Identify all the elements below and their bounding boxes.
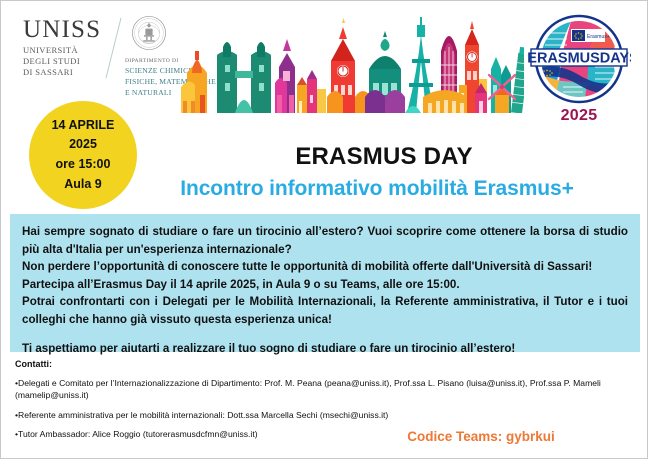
body-paragraph-3: Partecipa all’Erasmus Day il 14 aprile 2… [22,276,628,294]
contacts-title: Contatti: [15,359,637,369]
uniss-wordmark: UNISS [23,17,105,42]
erasmusdays-badge-logo: Erasmus+ #ERASMUSDAYS [527,11,631,111]
date-circle-line2: 2025 [69,135,97,155]
skyline-illustration [179,9,524,113]
contact-row-administrative: •Referente amministrativa per le mobilit… [15,409,637,421]
uniss-subtitle: UNIVERSITÀDEGLI STUDIDI SASSARI [23,45,105,79]
svg-text:Erasmus+: Erasmus+ [587,34,610,40]
erasmus-day-poster: UNISS UNIVERSITÀDEGLI STUDIDI SASSARI [0,0,648,459]
university-seal-icon [131,15,167,51]
body-paragraph-5: Ti aspettiamo per aiutarti a realizzare … [22,340,628,358]
body-paragraph-2: Non perdere l’opportunità di conoscere t… [22,258,628,276]
contact-row-delegates: •Delegati e Comitato per l’Internazional… [15,377,637,402]
logo-divider [106,18,122,78]
teams-code: Codice Teams: gybrkui [331,429,631,444]
page-subtitle: Incontro informativo mobilità Erasmus+ [119,177,635,201]
date-circle-line4: Aula 9 [64,175,102,195]
uniss-logo: UNISS UNIVERSITÀDEGLI STUDIDI SASSARI [23,17,105,79]
page-title: ERASMUS DAY [149,143,619,171]
body-paragraph-1: Hai sempre sognato di studiare o fare un… [22,223,628,258]
body-paragraph-4: Potrai confrontarti con i Delegati per l… [22,293,628,328]
event-description-box: Hai sempre sognato di studiare o fare un… [10,214,640,352]
date-circle-line3: ore 15:00 [56,155,111,175]
event-date-circle: 14 APRILE 2025 ore 15:00 Aula 9 [29,101,137,209]
badge-hashtag-text: #ERASMUSDAYS [527,51,631,67]
date-circle-line1: 14 APRILE [52,116,115,136]
badge-year: 2025 [527,107,631,125]
